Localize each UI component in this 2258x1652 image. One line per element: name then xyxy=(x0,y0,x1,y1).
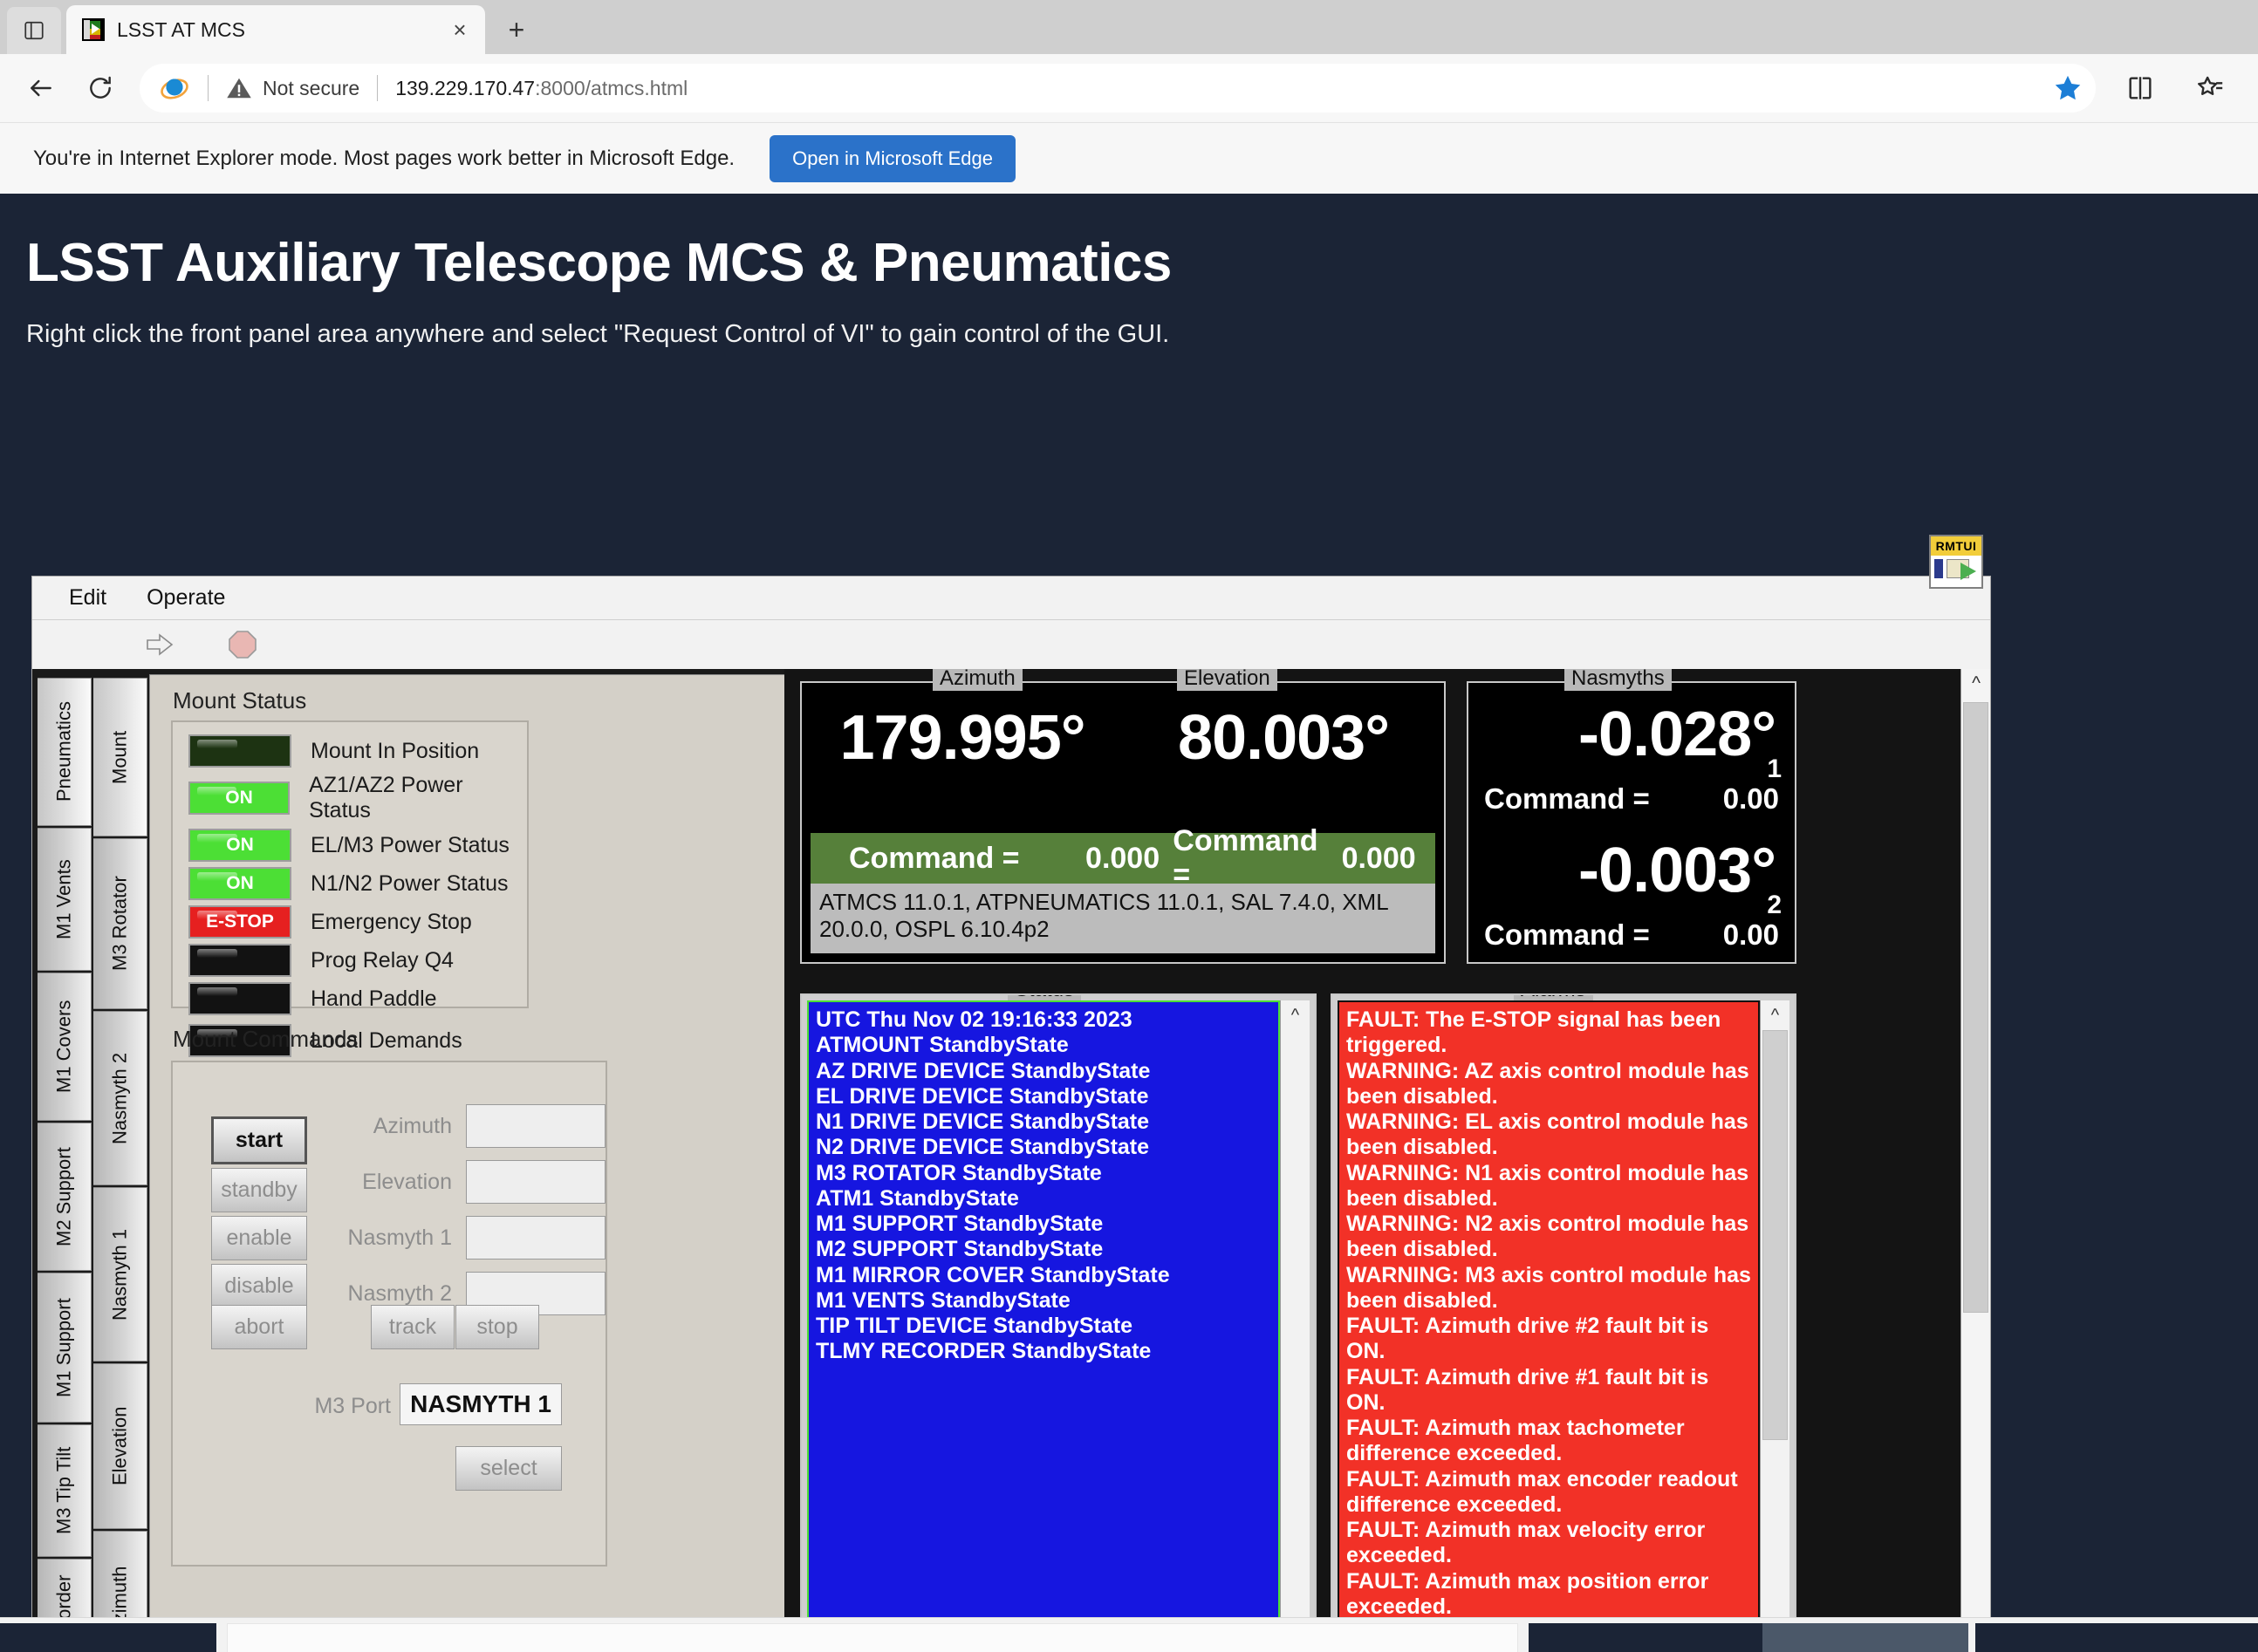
azimuth-value: 179.995° xyxy=(802,702,1123,798)
panel-vertical-scrollbar[interactable]: ^ ˅ xyxy=(1960,669,1990,1652)
collections-star-icon xyxy=(2195,73,2225,103)
led-n1-n2-power-status: ON xyxy=(188,867,291,900)
led-label: AZ1/AZ2 Power Status xyxy=(309,773,527,823)
status-line: M1 SUPPORT StandbyState xyxy=(816,1212,1271,1237)
web-page-body: LSST Auxiliary Telescope MCS & Pneumatic… xyxy=(0,194,2258,1652)
nasmyth-value-list: -0.028°1Command =0.00-0.003°2Command =0.… xyxy=(1468,683,1795,952)
alarm-line: FAULT: The E-STOP signal has been trigge… xyxy=(1346,1007,1751,1059)
elevation-caption: Elevation xyxy=(1177,669,1277,691)
mount-commands-group: startstandbyenabledisable AzimuthElevati… xyxy=(171,1061,607,1567)
warning-triangle-icon xyxy=(226,75,252,101)
nasmyth-command-row: Command =0.00 xyxy=(1484,918,1779,952)
outer-tab-stack: PneumaticsM1 VentsM1 CoversM2 SupportM1 … xyxy=(38,678,92,1652)
mount-status-row: Hand Paddle xyxy=(188,982,527,1015)
elevation-input[interactable] xyxy=(466,1160,606,1204)
led-mount-in-position xyxy=(188,734,291,768)
led-prog-relay-q4 xyxy=(188,944,291,977)
nasmyth-value: -0.028°1 xyxy=(1484,699,1779,770)
command-field-row: Azimuth xyxy=(321,1104,606,1148)
command-field-row: Nasmyth 1 xyxy=(321,1216,606,1259)
vertical-tab-label: Pneumatics xyxy=(53,702,76,802)
version-string: ATMCS 11.0.1, ATPNEUMATICS 11.0.1, SAL 7… xyxy=(811,884,1435,953)
abort-button[interactable]: abort xyxy=(211,1305,307,1349)
mount-status-row: ONN1/N2 Power Status xyxy=(188,867,527,900)
stop-button-icon[interactable] xyxy=(228,630,257,659)
led-az1-az2-power-status: ON xyxy=(188,782,290,815)
mount-tab-sheet: Mount Status Mount In PositionONAZ1/AZ2 … xyxy=(149,674,786,1652)
disable-button[interactable]: disable xyxy=(211,1264,307,1308)
menu-operate[interactable]: Operate xyxy=(147,585,225,611)
vertical-tab-m1-covers[interactable]: M1 Covers xyxy=(38,973,92,1121)
nasmyth-command-value: 0.00 xyxy=(1723,918,1779,952)
ie-mode-notice-text: You're in Internet Explorer mode. Most p… xyxy=(33,147,735,171)
mount-status-row: ONAZ1/AZ2 Power Status xyxy=(188,773,527,823)
inner-tab-stack: MountM3 RotatorNasmyth 2Nasmyth 1Elevati… xyxy=(93,678,147,1652)
elevation-command-label: Command = xyxy=(1173,824,1341,892)
nasmyth-index: 1 xyxy=(1767,754,1781,784)
page-subtitle: Right click the front panel area anywher… xyxy=(26,320,2232,349)
url-host: 139.229.170.47 xyxy=(395,77,535,99)
azimuth-caption: Azimuth xyxy=(933,669,1023,691)
ie-mode-notice-bar: You're in Internet Explorer mode. Most p… xyxy=(0,122,2258,194)
vertical-tab-elevation[interactable]: Elevation xyxy=(93,1363,147,1529)
vertical-tab-m1-vents[interactable]: M1 Vents xyxy=(38,828,92,971)
vertical-tab-m2-support[interactable]: M2 Support xyxy=(38,1123,92,1271)
led-value: ON xyxy=(225,788,253,809)
stop-button[interactable]: stop xyxy=(455,1305,539,1349)
rmtui-glyph xyxy=(1931,556,1981,587)
azimuth-command-value: 0.000 xyxy=(1085,842,1173,876)
status-line: EL DRIVE DEVICE StandbyState xyxy=(816,1084,1271,1109)
internet-explorer-icon xyxy=(159,72,190,104)
alarm-line: WARNING: N1 axis control module has been… xyxy=(1346,1161,1751,1212)
alarm-line: WARNING: M3 axis control module has been… xyxy=(1346,1263,1751,1314)
tab-title: LSST AT MCS xyxy=(117,18,431,42)
vertical-tab-mount[interactable]: Mount xyxy=(93,678,147,836)
status-line: N1 DRIVE DEVICE StandbyState xyxy=(816,1109,1271,1135)
new-tab-button[interactable]: + xyxy=(497,10,536,49)
vertical-tab-m3-tip-tilt[interactable]: M3 Tip Tilt xyxy=(38,1424,92,1557)
primary-values-row: 179.995° 80.003° xyxy=(802,702,1444,798)
led-hand-paddle xyxy=(188,982,291,1015)
labview-remote-panel: Edit Operate RMTUI PneumaticsM1 VentsM1 … xyxy=(31,576,1991,1652)
led-emergency-stop: E-STOP xyxy=(188,905,291,939)
nasmyth-index: 2 xyxy=(1767,891,1781,920)
led-label: Mount In Position xyxy=(311,739,479,764)
readout-region: Azimuth Elevation 179.995° 80.003° Comma… xyxy=(784,669,1990,1652)
status-line: M2 SUPPORT StandbyState xyxy=(816,1237,1271,1262)
m3-port-value[interactable]: NASMYTH 1 xyxy=(400,1383,562,1425)
command-bar: Command = 0.000 Command = 0.000 xyxy=(811,833,1435,884)
omnibox-divider xyxy=(208,75,209,101)
field-label: Nasmyth 2 xyxy=(321,1281,452,1307)
nasmyth-value: -0.003°2 xyxy=(1484,835,1779,906)
run-arrow-icon[interactable] xyxy=(146,631,175,658)
alarm-line: FAULT: Azimuth max position error exceed… xyxy=(1346,1569,1751,1621)
nasmyths-readout: Nasmyths -0.028°1Command =0.00-0.003°2Co… xyxy=(1467,681,1796,964)
vertical-tab-label: M1 Vents xyxy=(53,859,76,939)
scroll-up-icon[interactable]: ^ xyxy=(1761,1000,1789,1030)
alarm-line: FAULT: Azimuth drive #2 fault bit is ON. xyxy=(1346,1314,1751,1365)
vertical-tab-label: Nasmyth 2 xyxy=(109,1052,132,1143)
alarm-line-list: FAULT: The E-STOP signal has been trigge… xyxy=(1338,1000,1760,1652)
led-label: Prog Relay Q4 xyxy=(311,948,454,973)
azimuth-input[interactable] xyxy=(466,1104,606,1148)
nasmyth-command-label: Command = xyxy=(1484,782,1650,816)
tab-list-icon xyxy=(23,19,45,42)
browser-toolbar-icons xyxy=(2113,61,2244,115)
field-label: Azimuth xyxy=(321,1114,452,1139)
nasmyth-command-value: 0.00 xyxy=(1723,782,1779,816)
elevation-value: 80.003° xyxy=(1123,702,1444,798)
alarm-line: FAULT: Azimuth max tachometer difference… xyxy=(1346,1416,1751,1467)
mount-status-row: E-STOPEmergency Stop xyxy=(188,905,527,939)
rmtui-badge: RMTUI xyxy=(1929,535,1983,589)
security-status-label: Not secure xyxy=(263,77,359,100)
page-header: LSST Auxiliary Telescope MCS & Pneumatic… xyxy=(0,194,2258,349)
enable-button[interactable]: enable xyxy=(211,1216,307,1260)
panel-vscroll-thumb[interactable] xyxy=(1963,702,1988,1313)
led-label: Hand Paddle xyxy=(311,986,437,1012)
alarms-listbox[interactable]: Alarms FAULT: The E-STOP signal has been… xyxy=(1331,993,1796,1652)
status-line: ATMOUNT StandbyState xyxy=(816,1033,1271,1058)
vertical-tab-label: M1 Covers xyxy=(53,1000,76,1093)
favorite-button[interactable] xyxy=(2049,69,2087,107)
state-button-column: startstandbyenabledisable xyxy=(211,1116,311,1312)
status-scrollbar[interactable]: ^ ˅ xyxy=(1280,1000,1310,1652)
field-label: Nasmyth 1 xyxy=(321,1225,452,1251)
vertical-tab-m1-support[interactable]: M1 Support xyxy=(38,1273,92,1423)
alarm-line: FAULT: Azimuth drive #1 fault bit is ON. xyxy=(1346,1365,1751,1416)
vertical-tab-label: M3 Rotator xyxy=(109,877,132,972)
led-label: Emergency Stop xyxy=(311,910,472,935)
status-listbox[interactable]: Status UTC Thu Nov 02 19:16:33 2023ATMOU… xyxy=(800,993,1317,1652)
status-line: M1 VENTS StandbyState xyxy=(816,1288,1271,1314)
labview-front-panel: PneumaticsM1 VentsM1 CoversM2 SupportM1 … xyxy=(32,669,1990,1652)
command-field-row: Elevation xyxy=(321,1160,606,1204)
led-value: ON xyxy=(226,873,254,894)
mount-status-group: Mount In PositionONAZ1/AZ2 Power StatusO… xyxy=(171,720,529,1008)
nasmyth-1-input[interactable] xyxy=(466,1216,606,1259)
arrow-left-icon xyxy=(27,74,55,102)
nasmyth-readout-item: -0.028°1Command =0.00 xyxy=(1484,699,1779,816)
status-line: TLMY RECORDER StandbyState xyxy=(816,1339,1271,1364)
status-line: TIP TILT DEVICE StandbyState xyxy=(816,1314,1271,1339)
led-value: E-STOP xyxy=(206,911,274,932)
star-filled-icon xyxy=(2052,72,2084,104)
mount-status-row: Mount In Position xyxy=(188,734,527,768)
status-line: N2 DRIVE DEVICE StandbyState xyxy=(816,1135,1271,1160)
labview-favicon xyxy=(82,18,105,41)
mount-status-title: Mount Status xyxy=(173,687,306,714)
command-field-list: AzimuthElevationNasmyth 1Nasmyth 2 xyxy=(321,1104,606,1328)
nasmyth-readout-item: -0.003°2Command =0.00 xyxy=(1484,835,1779,952)
browser-tab[interactable]: LSST AT MCS × xyxy=(66,5,485,54)
vertical-tab-label: Nasmyth 1 xyxy=(109,1228,132,1320)
navigation-bar: Not secure 139.229.170.47:8000/atmcs.htm… xyxy=(0,54,2258,122)
vertical-tab-pneumatics[interactable]: Pneumatics xyxy=(38,678,92,826)
labview-toolbar xyxy=(32,620,1990,669)
start-button[interactable]: start xyxy=(211,1116,307,1164)
url-text: 139.229.170.47:8000/atmcs.html xyxy=(395,77,688,100)
vertical-tab-label: Elevation xyxy=(109,1407,132,1486)
led-el-m3-power-status: ON xyxy=(188,829,291,862)
alarm-line: FAULT: Azimuth max velocity error exceed… xyxy=(1346,1518,1751,1569)
browser-chrome: LSST AT MCS × + xyxy=(0,0,2258,194)
mount-commands-title: Mount Commands xyxy=(173,1026,358,1053)
vertical-tab-nasmyth-1[interactable]: Nasmyth 1 xyxy=(93,1187,147,1362)
select-button[interactable]: select xyxy=(455,1446,562,1491)
track-button[interactable]: track xyxy=(371,1305,455,1349)
alarms-scrollbar[interactable]: ^ ˅ xyxy=(1760,1000,1789,1652)
menu-edit[interactable]: Edit xyxy=(69,585,106,611)
close-icon[interactable]: × xyxy=(443,17,476,44)
status-line: M1 MIRROR COVER StandbyState xyxy=(816,1263,1271,1288)
vertical-tab-nasmyth-2[interactable]: Nasmyth 2 xyxy=(93,1011,147,1185)
collections-button[interactable] xyxy=(2183,61,2237,115)
reload-icon xyxy=(86,74,114,102)
status-line: ATM1 StandbyState xyxy=(816,1186,1271,1212)
os-taskbar xyxy=(0,1617,2258,1652)
azimuth-command-label: Command = xyxy=(811,842,1085,876)
field-label: Elevation xyxy=(321,1170,452,1195)
azimuth-elevation-readout: Azimuth Elevation 179.995° 80.003° Comma… xyxy=(800,681,1446,964)
led-value: ON xyxy=(226,835,254,856)
open-in-edge-button[interactable]: Open in Microsoft Edge xyxy=(770,135,1016,182)
back-button[interactable] xyxy=(14,61,68,115)
url-path: :8000/atmcs.html xyxy=(535,77,688,99)
page-title: LSST Auxiliary Telescope MCS & Pneumatic… xyxy=(26,232,2232,294)
vertical-tab-label: M3 Tip Tilt xyxy=(53,1447,76,1534)
nasmyth-command-label: Command = xyxy=(1484,918,1650,952)
alarm-line: WARNING: EL axis control module has been… xyxy=(1346,1109,1751,1161)
alarm-line: FAULT: Azimuth max encoder readout diffe… xyxy=(1346,1467,1751,1519)
labview-menubar: Edit Operate RMTUI xyxy=(32,577,1990,620)
m3-port-label: M3 Port xyxy=(269,1394,391,1419)
mount-status-row: Prog Relay Q4 xyxy=(188,944,527,977)
alarm-line: WARNING: N2 axis control module has been… xyxy=(1346,1212,1751,1263)
led-label: EL/M3 Power Status xyxy=(311,833,510,858)
vertical-tab-label: Mount xyxy=(109,730,132,783)
panel-scroll-up-icon[interactable]: ^ xyxy=(1961,669,1991,699)
tab-list-button[interactable] xyxy=(7,7,61,54)
rmtui-caption: RMTUI xyxy=(1931,536,1981,556)
status-line-list: UTC Thu Nov 02 19:16:33 2023ATMOUNT Stan… xyxy=(807,1000,1280,1652)
vertical-tab-m3-rotator[interactable]: M3 Rotator xyxy=(93,838,147,1009)
scroll-up-icon[interactable]: ^ xyxy=(1281,1000,1310,1030)
front-panel-canvas: PneumaticsM1 VentsM1 CoversM2 SupportM1 … xyxy=(32,669,1990,1652)
alarm-line: WARNING: AZ axis control module has been… xyxy=(1346,1059,1751,1110)
mount-status-row: ONEL/M3 Power Status xyxy=(188,829,527,862)
elevation-command-value: 0.000 xyxy=(1342,842,1435,876)
scroll-thumb[interactable] xyxy=(1762,1030,1788,1440)
address-bar[interactable]: Not secure 139.229.170.47:8000/atmcs.htm… xyxy=(140,64,2096,113)
status-line: M3 ROTATOR StandbyState xyxy=(816,1161,1271,1186)
tab-strip: LSST AT MCS × + xyxy=(0,0,2258,54)
split-screen-icon xyxy=(2125,73,2155,103)
led-label: N1/N2 Power Status xyxy=(311,871,509,897)
split-screen-button[interactable] xyxy=(2113,61,2167,115)
status-line: AZ DRIVE DEVICE StandbyState xyxy=(816,1059,1271,1084)
status-line: UTC Thu Nov 02 19:16:33 2023 xyxy=(816,1007,1271,1033)
reload-button[interactable] xyxy=(73,61,127,115)
standby-button[interactable]: standby xyxy=(211,1168,307,1212)
nasmyths-caption: Nasmyths xyxy=(1564,669,1672,691)
vertical-tab-label: M1 Support xyxy=(53,1298,76,1397)
omnibox-divider-2 xyxy=(377,75,378,101)
mount-status-led-list: Mount In PositionONAZ1/AZ2 Power StatusO… xyxy=(173,722,527,1015)
vertical-tab-label: M2 Support xyxy=(53,1147,76,1246)
nasmyth-command-row: Command =0.00 xyxy=(1484,782,1779,816)
